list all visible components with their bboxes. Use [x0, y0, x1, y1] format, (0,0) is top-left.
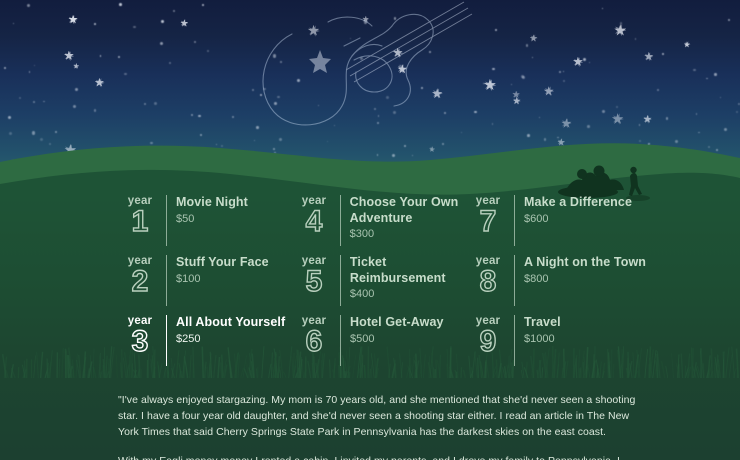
year-badge: year4	[292, 194, 336, 237]
grass-blade	[41, 352, 43, 378]
grass-blade	[66, 351, 67, 379]
star-icon	[27, 4, 30, 7]
star-icon	[202, 4, 204, 6]
star-icon	[483, 83, 485, 85]
gift-item-year-8[interactable]: year8A Night on the Town$800	[466, 252, 666, 312]
gift-item-year-6[interactable]: year6Hotel Get-Away$500	[292, 312, 466, 372]
grass-blade	[62, 348, 64, 378]
gift-info: Ticket Reimbursement$400	[350, 254, 466, 301]
story-paragraph-2: With my Eagli money money I rented a cab…	[118, 453, 636, 460]
vertical-divider	[514, 315, 515, 366]
star-icon	[94, 109, 97, 112]
star-icon	[154, 102, 157, 105]
star-icon	[95, 78, 105, 88]
star-icon	[73, 105, 76, 108]
star-icon	[573, 57, 583, 67]
star-icon	[563, 80, 565, 82]
star-icon	[33, 101, 35, 103]
star-icon	[191, 114, 193, 116]
year-numeral: 6	[306, 327, 323, 357]
gift-price: $300	[350, 227, 466, 241]
star-icon	[492, 68, 495, 71]
gift-item-year-4[interactable]: year4Choose Your Own Adventure$300	[292, 192, 466, 252]
star-icon	[635, 38, 637, 40]
star-icon	[484, 79, 496, 91]
star-icon	[526, 44, 529, 47]
star-icon	[736, 111, 738, 113]
grass-blade	[345, 371, 346, 378]
star-icon	[521, 75, 524, 78]
star-icon	[43, 101, 45, 103]
star-icon	[706, 78, 708, 80]
gift-item-year-2[interactable]: year2Stuff Your Face$100	[118, 252, 292, 312]
gift-year-grid: year1Movie Night$50year4Choose Your Own …	[118, 192, 730, 372]
star-icon	[34, 65, 35, 66]
vertical-divider	[340, 255, 341, 306]
star-icon	[559, 71, 561, 73]
gift-item-year-7[interactable]: year7Make a Difference$600	[466, 192, 666, 252]
gift-price: $400	[350, 287, 466, 301]
star-icon	[589, 62, 590, 63]
star-icon	[544, 86, 554, 96]
star-icon	[587, 125, 590, 128]
grass-blade	[34, 356, 36, 379]
story-text-block: "I've always enjoyed stargazing. My mom …	[118, 392, 636, 460]
year-numeral: 4	[306, 207, 323, 237]
grass-blade	[25, 367, 26, 378]
gift-item-year-9[interactable]: year9Travel$1000	[466, 312, 666, 372]
gift-info: Movie Night$50	[176, 194, 248, 226]
gift-title: Make a Difference	[524, 195, 632, 211]
star-icon	[616, 106, 618, 108]
star-icon	[561, 118, 572, 129]
star-icon	[68, 15, 78, 25]
gift-item-year-3[interactable]: year3All About Yourself$250	[118, 312, 292, 372]
star-icon	[720, 97, 721, 98]
gift-info: Hotel Get-Away$500	[350, 314, 444, 346]
year-badge: year8	[466, 254, 510, 297]
star-icon	[539, 117, 540, 118]
gift-info: Stuff Your Face$100	[176, 254, 269, 286]
star-icon	[644, 52, 653, 61]
star-icon	[8, 116, 11, 119]
star-icon	[612, 113, 624, 125]
star-icon	[602, 110, 605, 113]
star-icon	[639, 124, 641, 126]
year-numeral: 1	[132, 207, 149, 237]
gift-title: Travel	[524, 315, 561, 331]
star-icon	[173, 10, 175, 12]
star-icon	[75, 88, 78, 91]
star-icon	[180, 19, 188, 27]
star-icon	[207, 50, 209, 52]
vertical-divider	[166, 255, 167, 306]
year-badge: year2	[118, 254, 162, 297]
gift-title: All About Yourself	[176, 315, 285, 331]
grass-blade	[283, 372, 286, 378]
gift-price: $1000	[524, 332, 561, 346]
vertical-divider	[166, 195, 167, 246]
star-icon	[492, 123, 494, 125]
gift-price: $50	[176, 212, 248, 226]
star-icon	[563, 71, 564, 72]
star-icon	[684, 41, 691, 48]
year-badge: year6	[292, 314, 336, 357]
star-icon	[19, 97, 21, 99]
star-icon	[13, 23, 14, 24]
grass-blade	[72, 360, 74, 378]
year-badge: year3	[118, 314, 162, 357]
star-icon	[144, 103, 146, 105]
star-icon	[583, 58, 586, 61]
year-numeral: 5	[306, 267, 323, 297]
gift-title: Movie Night	[176, 195, 248, 211]
star-icon	[728, 19, 731, 22]
star-icon	[161, 20, 164, 23]
gift-info: Travel$1000	[524, 314, 561, 346]
gift-title: Hotel Get-Away	[350, 315, 444, 331]
grass-blade	[732, 347, 735, 378]
year-badge: year9	[466, 314, 510, 357]
year-badge: year5	[292, 254, 336, 297]
year-badge: year7	[466, 194, 510, 237]
star-icon	[194, 41, 197, 44]
vertical-divider	[514, 195, 515, 246]
star-icon	[73, 63, 79, 69]
gift-info: All About Yourself$250	[176, 314, 285, 346]
night-sky-gift-page: year1Movie Night$50year4Choose Your Own …	[0, 0, 740, 460]
year-numeral: 9	[480, 327, 497, 357]
star-icon	[511, 84, 512, 85]
star-icon	[160, 42, 163, 45]
star-icon	[602, 8, 604, 10]
star-icon	[532, 57, 534, 59]
year-numeral: 8	[480, 267, 497, 297]
star-icon	[530, 34, 538, 42]
grass-blade	[37, 352, 39, 378]
star-icon	[198, 115, 201, 118]
star-icon	[696, 113, 698, 115]
star-icon	[124, 73, 126, 75]
grass-blade	[59, 359, 60, 379]
gift-title: Stuff Your Face	[176, 255, 269, 271]
star-icon	[662, 53, 664, 55]
gift-title: Ticket Reimbursement	[350, 255, 466, 286]
star-icon	[29, 71, 30, 72]
star-icon	[64, 51, 74, 61]
star-icon	[643, 115, 652, 124]
gift-item-year-1[interactable]: year1Movie Night$50	[118, 192, 292, 252]
gift-price: $600	[524, 212, 632, 226]
gift-price: $250	[176, 332, 285, 346]
star-icon	[620, 22, 622, 24]
year-numeral: 3	[132, 327, 149, 357]
gift-info: Choose Your Own Adventure$300	[350, 194, 466, 241]
star-icon	[495, 29, 497, 31]
star-icon	[714, 73, 716, 75]
star-icon	[724, 128, 727, 131]
gift-info: A Night on the Town$800	[524, 254, 646, 286]
gift-title: Choose Your Own Adventure	[350, 195, 466, 226]
gift-info: Make a Difference$600	[524, 194, 632, 226]
guitar-constellation-icon	[232, 0, 482, 129]
star-icon	[94, 23, 96, 25]
grass-blade	[47, 359, 48, 379]
star-icon	[657, 89, 659, 91]
vertical-divider	[514, 255, 515, 306]
gift-item-year-5[interactable]: year5Ticket Reimbursement$400	[292, 252, 466, 312]
star-icon	[513, 97, 521, 105]
vertical-divider	[340, 315, 341, 366]
vertical-divider	[166, 315, 167, 366]
gift-price: $100	[176, 272, 269, 286]
star-icon	[100, 55, 102, 57]
gift-title: A Night on the Town	[524, 255, 646, 271]
grass-blade	[76, 353, 77, 378]
star-icon	[693, 69, 696, 72]
year-numeral: 7	[480, 207, 497, 237]
star-icon	[666, 117, 669, 120]
star-icon	[169, 62, 171, 64]
vertical-divider	[340, 195, 341, 246]
star-icon	[614, 24, 626, 36]
gift-price: $800	[524, 272, 646, 286]
year-numeral: 2	[132, 267, 149, 297]
star-icon	[133, 26, 136, 29]
year-badge: year1	[118, 194, 162, 237]
gift-price: $500	[350, 332, 444, 346]
star-icon	[118, 56, 120, 58]
story-paragraph-1: "I've always enjoyed stargazing. My mom …	[118, 392, 636, 441]
star-icon	[4, 67, 6, 69]
star-icon	[119, 3, 122, 6]
